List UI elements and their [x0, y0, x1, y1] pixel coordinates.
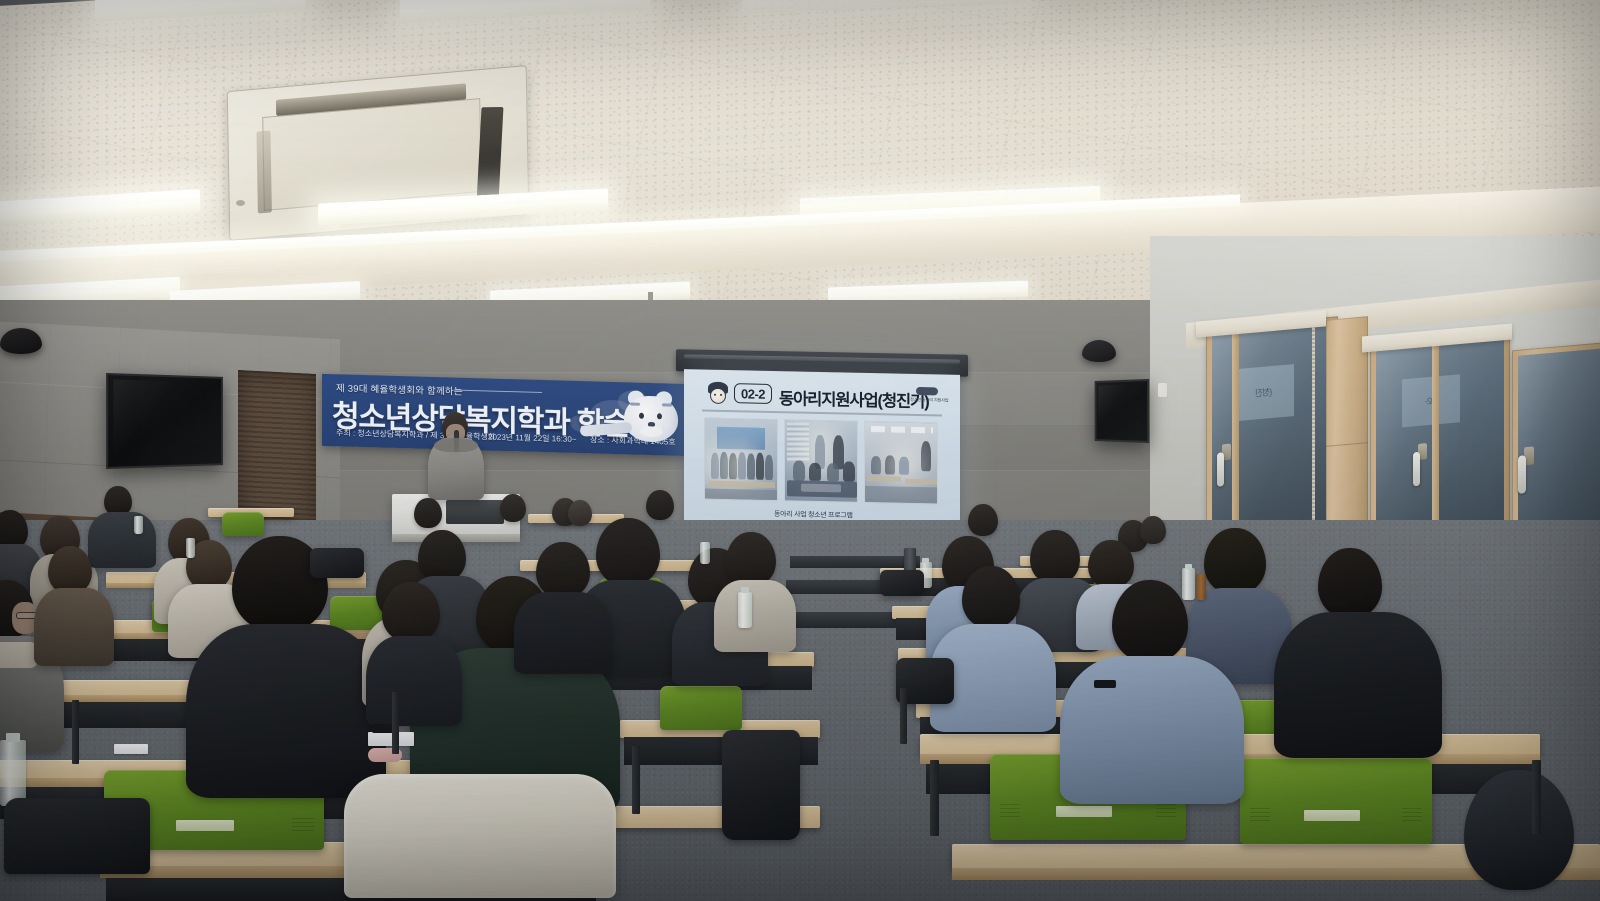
bottle-cap: [741, 587, 749, 593]
desk-leg-2: [392, 692, 399, 754]
photo-1-person-3: [729, 453, 737, 479]
chair-grip-right: [1156, 804, 1176, 820]
window-1-slide-reflection: (청진: [1234, 364, 1294, 421]
monitor-left-glare: [113, 380, 217, 462]
photo-1-screen: [717, 427, 765, 450]
body: [88, 512, 156, 568]
photo-2-window-blinds: [787, 422, 809, 462]
audience-right-6: [1112, 580, 1188, 662]
photo-1-person-5: [747, 453, 755, 479]
audience-far-a2: [500, 494, 526, 522]
presenter: [424, 412, 488, 500]
photo-1-person-4: [738, 452, 746, 479]
head: [536, 542, 590, 598]
head: [962, 566, 1020, 628]
desk-leg-3: [900, 688, 907, 744]
audience-right-7: [962, 566, 1020, 628]
head: [1318, 548, 1382, 618]
body: [714, 580, 796, 652]
audience-left-1: [0, 510, 28, 550]
wall-monitor-right[interactable]: [1095, 379, 1150, 443]
event-banner: 제 39대 혜율학생회와 함께하는 청소년상담복지학과 학술제 주최 : 청소년…: [322, 374, 690, 456]
chair-far-left-1[interactable]: [222, 512, 264, 536]
tiger-stripe-1: [630, 402, 640, 405]
photo-1-person-6: [756, 453, 764, 480]
photo-3-desk-1: [867, 476, 901, 482]
water-bottle-1: [738, 592, 752, 628]
head: [48, 546, 92, 594]
bottle-cap: [922, 558, 929, 563]
chair-label: [176, 820, 234, 831]
head: [1140, 516, 1166, 544]
photo-1-person-1: [711, 453, 719, 479]
photo-3-person-3: [899, 457, 909, 475]
slide-avatar-eye-right: [720, 394, 722, 396]
head: [1030, 530, 1080, 584]
wall-monitor-left[interactable]: [106, 373, 223, 469]
slide-avatar: [706, 382, 730, 407]
chair-center-r4[interactable]: [660, 686, 742, 730]
chair-grip-right: [1402, 808, 1422, 824]
body: [186, 624, 386, 798]
projection-screen: 02-2 동아리지원사업(청진기) 청소년 동아리 지원사업: [684, 369, 960, 543]
body: [34, 588, 114, 666]
slide-avatar-face: [710, 388, 726, 404]
photo-2-person-seated-4: [843, 461, 855, 481]
audience-left-6: [48, 546, 92, 594]
photo-3-person-standing: [921, 441, 931, 471]
lecture-hall-photo: EPSON 제 39대 혜율학생회와 함께하는 청소년상담복지학과 학술제 주최…: [0, 0, 1600, 901]
tiger-eye-right: [657, 413, 662, 419]
photo-2-person-seated-1: [793, 460, 805, 480]
corner-speaker-right: [1082, 340, 1116, 362]
notebook-1: [368, 732, 414, 746]
audience-right-5: [1318, 548, 1382, 618]
bottle-cap: [6, 733, 20, 742]
water-bottle-6: [186, 538, 195, 558]
bag-desk-left: [4, 798, 150, 874]
audience-far-a9: [1140, 516, 1166, 544]
water-bottle-3: [1182, 568, 1195, 600]
slide-corner-subtitle: 청소년 동아리 지원사업: [910, 397, 948, 404]
head: [726, 532, 776, 586]
audience-right-4: [1204, 528, 1266, 594]
audience-far-a4: [646, 490, 674, 520]
photo-3-ceiling-lights: [871, 426, 933, 433]
banner-divider-rule: [454, 390, 542, 393]
water-bottle-7: [134, 516, 143, 534]
slide-title: 동아리지원사업(청진기): [779, 385, 929, 412]
desk-leg-1: [72, 700, 79, 764]
bottle-cap: [1185, 564, 1192, 569]
audience-left-10: [418, 530, 466, 582]
photo-3-floor: [865, 486, 937, 505]
podium-equipment-panel: [446, 500, 504, 524]
audience-center-1: [596, 518, 660, 586]
corner-speaker-left: [0, 328, 42, 354]
tiger-muzzle: [640, 426, 663, 438]
audience-center-6: [382, 582, 440, 642]
audience-center-3: [726, 532, 776, 586]
screen-housing-highlight: [684, 354, 960, 363]
head: [418, 530, 466, 582]
ac-vent-left: [256, 130, 271, 213]
body: [1274, 612, 1442, 758]
audience-right-8: [1464, 770, 1574, 890]
window-3-handle[interactable]: [1518, 455, 1526, 494]
head: [968, 504, 998, 536]
chair-grip-right: [292, 818, 314, 834]
photo-1-person-7: [765, 455, 773, 480]
drink-bottle-brown: [1196, 574, 1206, 600]
head: [500, 494, 526, 522]
tiger-stripe-2: [662, 403, 672, 406]
monitor-right-glare: [1098, 384, 1145, 438]
smoke-detector-icon: [236, 200, 245, 206]
audience-far-a7: [968, 504, 998, 536]
slide-photo-2: [784, 419, 858, 503]
slide-photo-1: [704, 418, 778, 502]
head: [1464, 770, 1574, 890]
ac-vent-right: [477, 107, 504, 198]
slide-avatar-eye-left: [714, 394, 716, 396]
slide-caption: 동아리 사업 청소년 프로그램: [774, 509, 853, 521]
slide-photo-3: [864, 421, 938, 505]
photo-2-person-seated-2: [809, 463, 821, 481]
photo-3-person-2: [885, 455, 895, 474]
photo-2-table-items: [801, 484, 841, 493]
slide-section-badge: 02-2: [734, 383, 772, 404]
tiger-mascot-icon: [618, 390, 686, 454]
water-bottle-4: [0, 740, 26, 806]
chair-label: [1304, 810, 1360, 821]
banner-footer-date: 2023년 11월 22일 16:30~: [488, 431, 576, 444]
desk-leg-5: [632, 746, 640, 814]
photo-1-floor: [705, 489, 777, 502]
window-2-slide-reflection: 02-: [1402, 374, 1460, 427]
notebook-2: [114, 744, 148, 754]
audience-center-5: [536, 542, 590, 598]
window-1-handle[interactable]: [1217, 452, 1224, 487]
head: [568, 500, 592, 526]
bag-far-left: [310, 548, 364, 578]
wall-sensor-icon: [1158, 383, 1167, 397]
slide-corner-badge: [916, 387, 938, 395]
phone-2: [1094, 680, 1116, 688]
bag-center-aisle: [880, 570, 924, 596]
tiger-head: [624, 395, 678, 443]
head: [382, 582, 440, 642]
head: [596, 518, 660, 586]
chair-grip-left: [1000, 804, 1020, 820]
scarf: [0, 642, 38, 668]
body: [1060, 656, 1244, 804]
chair-right-near-2[interactable]: [1240, 758, 1432, 844]
desk-leg-6: [1532, 760, 1541, 834]
head: [646, 490, 674, 520]
audience-left-5: [0, 580, 34, 638]
ac-inner-panel: [262, 98, 482, 211]
audience-right-2: [1030, 530, 1080, 584]
photo-2-person-seated-3: [827, 463, 839, 481]
chair-label: [1056, 806, 1112, 817]
head: [1204, 528, 1266, 594]
photo-3-desk-2: [905, 479, 937, 485]
desk-leg-4: [930, 760, 939, 836]
audience-far-a5: [568, 500, 592, 526]
backpack-1: [722, 730, 800, 840]
window-2-handle[interactable]: [1413, 452, 1420, 487]
wood-column-1-seam: [1326, 442, 1368, 447]
photo-3-person-1: [871, 456, 881, 474]
body: [366, 636, 462, 726]
water-bottle-5: [700, 542, 710, 564]
chair-grip-left: [1250, 808, 1270, 824]
photo-1-person-2: [720, 452, 728, 479]
head: [414, 498, 442, 528]
aisle-step-1: [790, 556, 920, 568]
audience-far-a6: [414, 498, 442, 528]
tiger-eye-left: [639, 413, 644, 419]
sheepskin-coat: [344, 774, 616, 898]
head: [1112, 580, 1188, 662]
presenter-hood: [434, 438, 478, 452]
body: [514, 592, 612, 674]
